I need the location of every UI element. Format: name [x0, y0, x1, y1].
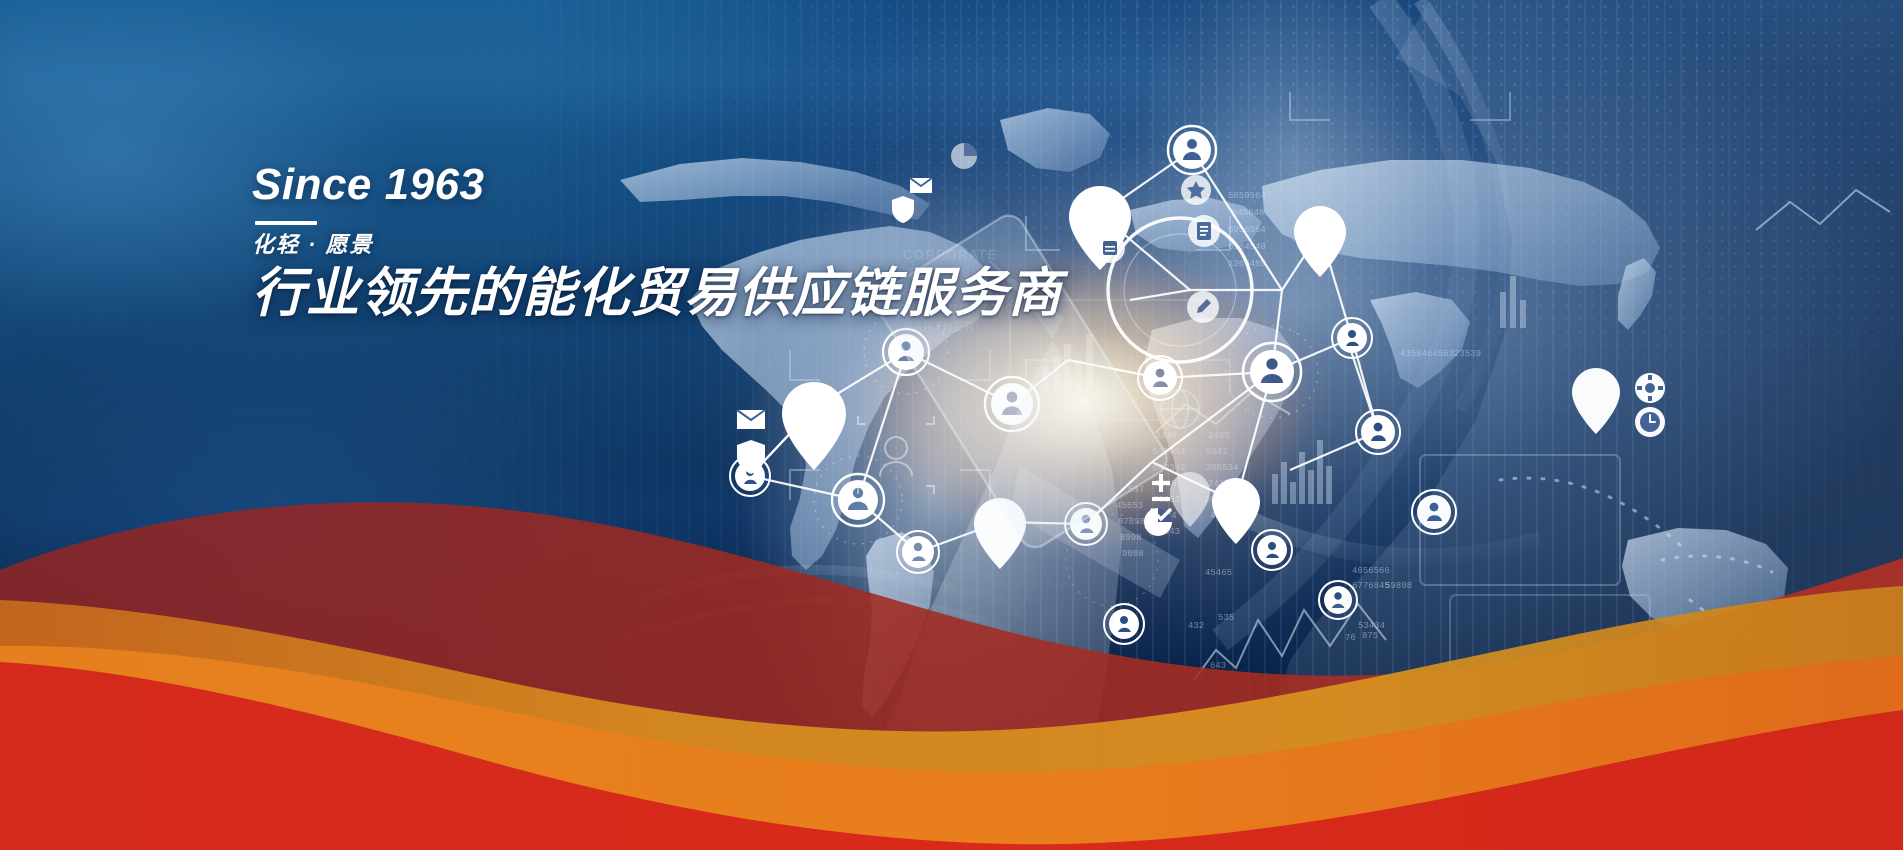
since-label: Since 1963: [252, 163, 1062, 207]
divider-rule: [255, 221, 317, 225]
vision-label: 化轻 · 愿景: [252, 234, 1062, 256]
hero-copy-block: Since 1963 化轻 · 愿景 行业领先的能化贸易供应链服务商: [252, 163, 1062, 322]
hero-banner: CORPORATE SUCCESS ENTERPRISE COLLABORATI…: [0, 0, 1903, 850]
page-title: 行业领先的能化贸易供应链服务商: [252, 265, 1062, 322]
bottom-wave-decoration: [0, 430, 1903, 850]
